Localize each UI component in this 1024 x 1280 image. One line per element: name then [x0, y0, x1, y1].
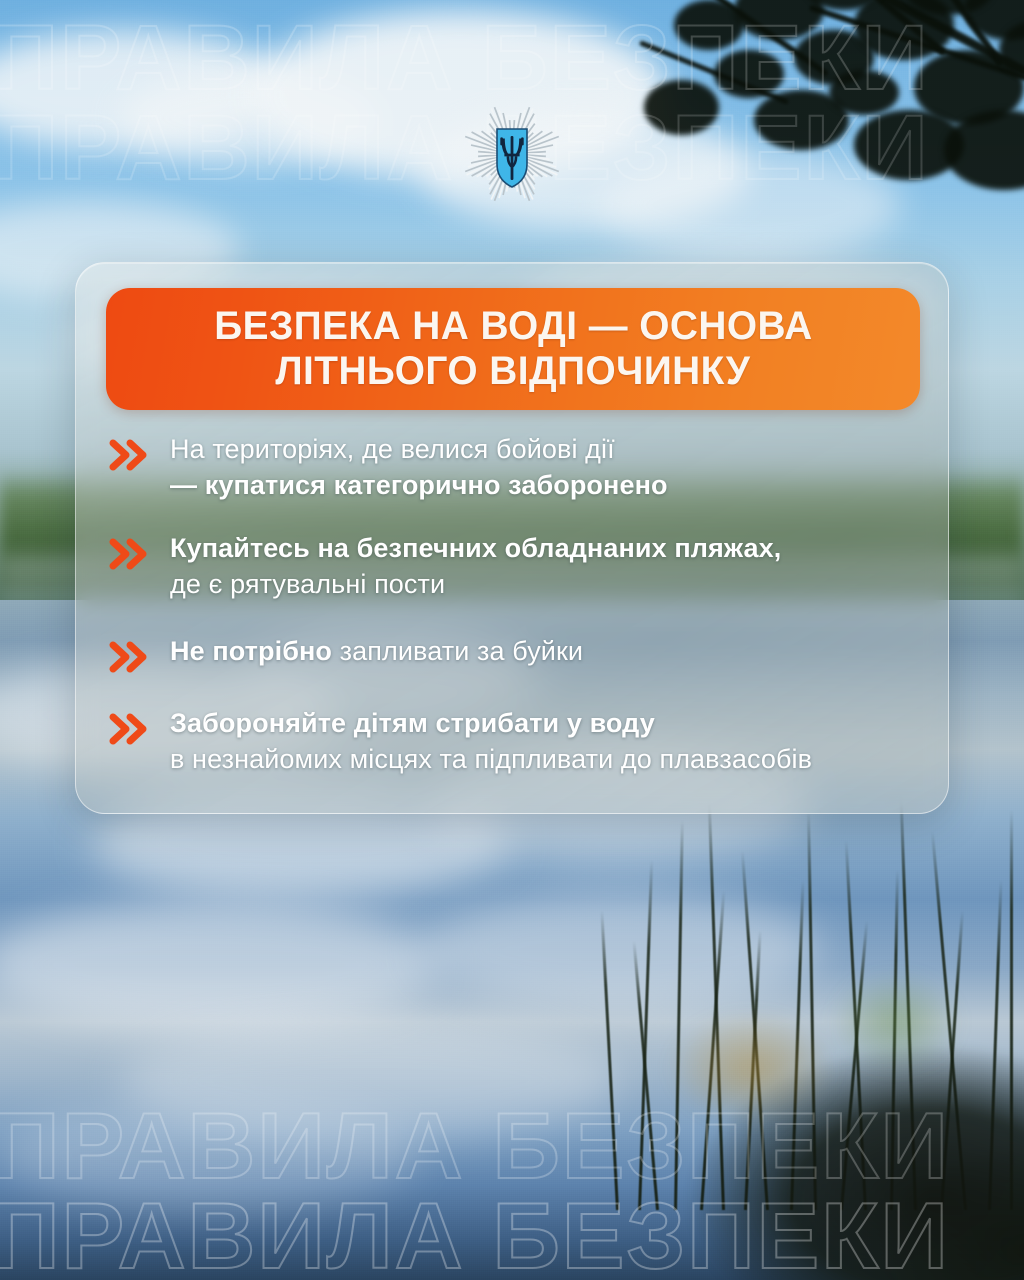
rule-regular-text: запливати за буйки — [340, 636, 583, 666]
list-item: Забороняйте дітям стрибати у воду в незн… — [108, 705, 918, 778]
rule-regular-text: На територіях, де велися бойові дії — [170, 434, 615, 464]
list-item: Не потрібно запливати за буйки — [108, 633, 918, 677]
double-chevron-right-icon — [108, 709, 152, 749]
pine-branch-silhouette — [604, 0, 1024, 280]
rule-regular-text: в незнайомих місцях та підпливати до пла… — [170, 744, 812, 774]
title-banner: БЕЗПЕКА НА ВОДІ — ОСНОВА ЛІТНЬОГО ВІДПОЧ… — [106, 288, 920, 410]
list-item-text: Забороняйте дітям стрибати у воду в незн… — [170, 705, 812, 778]
title-line-2: ЛІТНЬОГО ВІДПОЧИНКУ — [275, 349, 750, 394]
rule-bold-text: Забороняйте дітям стрибати у воду — [170, 708, 655, 738]
list-item-text: Купайтесь на безпечних обладнаних пляжах… — [170, 530, 781, 603]
rule-bold-text: Не потрібно — [170, 636, 332, 666]
double-chevron-right-icon — [108, 534, 152, 574]
shore-grass — [644, 930, 1004, 1160]
rule-bold-text: — купатися категорично заборонено — [170, 470, 668, 500]
list-item-text: На територіях, де велися бойові дії — ку… — [170, 431, 668, 504]
rule-bold-text: Купайтесь на безпечних обладнаних пляжах… — [170, 533, 781, 563]
emblem-shield — [497, 129, 527, 187]
content-card: БЕЗПЕКА НА ВОДІ — ОСНОВА ЛІТНЬОГО ВІДПОЧ… — [75, 262, 949, 814]
water-cloud-reflection — [0, 900, 440, 1030]
double-chevron-right-icon — [108, 637, 152, 677]
rule-regular-text: де є рятувальні пости — [170, 569, 445, 599]
title-line-1: БЕЗПЕКА НА ВОДІ — ОСНОВА — [214, 304, 812, 349]
double-chevron-right-icon — [108, 435, 152, 475]
list-item: На територіях, де велися бойові дії — ку… — [108, 431, 918, 504]
mvs-emblem-icon — [452, 92, 572, 212]
list-item: Купайтесь на безпечних обладнаних пляжах… — [108, 530, 918, 603]
list-item-text: Не потрібно запливати за буйки — [170, 633, 583, 670]
safety-rules-list: На територіях, де велися бойові дії — ку… — [108, 431, 918, 777]
infographic-poster: ПРАВИЛА БЕЗПЕКИ ПРАВИЛА БЕЗПЕКИ ПРАВИЛА … — [0, 0, 1024, 1280]
water-cloud-reflection — [0, 1100, 420, 1210]
